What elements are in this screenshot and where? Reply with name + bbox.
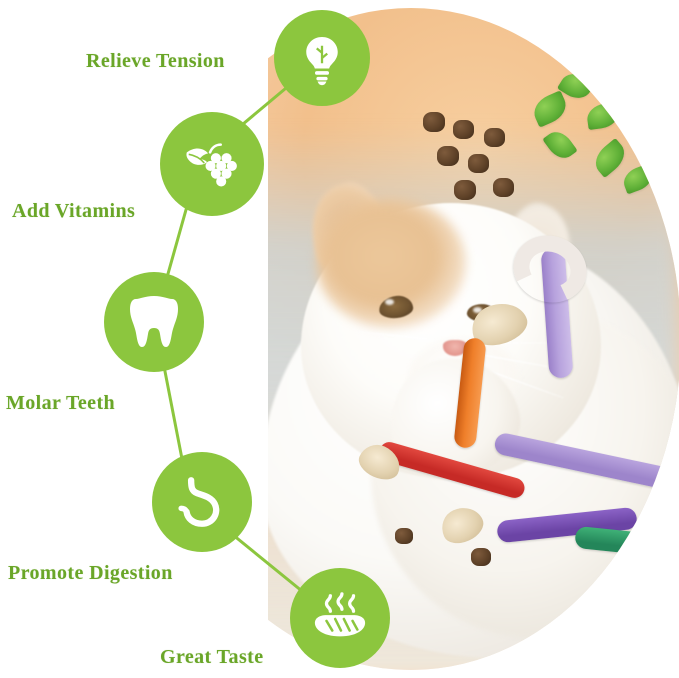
feature-badge-great-taste[interactable] <box>290 568 390 668</box>
cat-eye-highlight-left <box>385 299 394 305</box>
mint-leaf <box>614 75 656 111</box>
feature-label-add-vitamins: Add Vitamins <box>12 200 135 223</box>
treat-pellet <box>437 146 459 166</box>
steaming-food-icon <box>309 590 371 646</box>
treat-pellet <box>471 548 491 566</box>
feature-label-relieve-tension: Relieve Tension <box>86 50 225 73</box>
mint-leaf <box>585 102 620 130</box>
feature-badge-promote-digestion[interactable] <box>152 452 252 552</box>
feature-badge-relieve-tension[interactable] <box>274 10 370 106</box>
feature-badge-molar-teeth[interactable] <box>104 272 204 372</box>
infographic-canvas: Relieve Tension Add Vitamins <box>0 0 679 678</box>
treat-pellet <box>493 178 514 197</box>
feature-label-molar-teeth: Molar Teeth <box>6 392 115 415</box>
feature-label-great-taste: Great Taste <box>160 646 263 669</box>
mint-leaf <box>529 90 571 128</box>
treat-pellet <box>454 180 476 200</box>
stomach-icon <box>173 473 231 531</box>
mint-leaf <box>654 93 679 126</box>
lightbulb-icon <box>294 30 350 86</box>
feature-label-promote-digestion: Promote Digestion <box>8 562 173 585</box>
feature-badge-add-vitamins[interactable] <box>160 112 264 216</box>
treat-pellet <box>484 128 505 147</box>
treat-pellet <box>468 154 489 173</box>
treat-pellet <box>395 528 413 544</box>
treat-pellet <box>453 120 474 139</box>
tooth-icon <box>128 293 180 351</box>
treat-pellet <box>423 112 445 132</box>
grapes-leaf-icon <box>181 133 243 195</box>
